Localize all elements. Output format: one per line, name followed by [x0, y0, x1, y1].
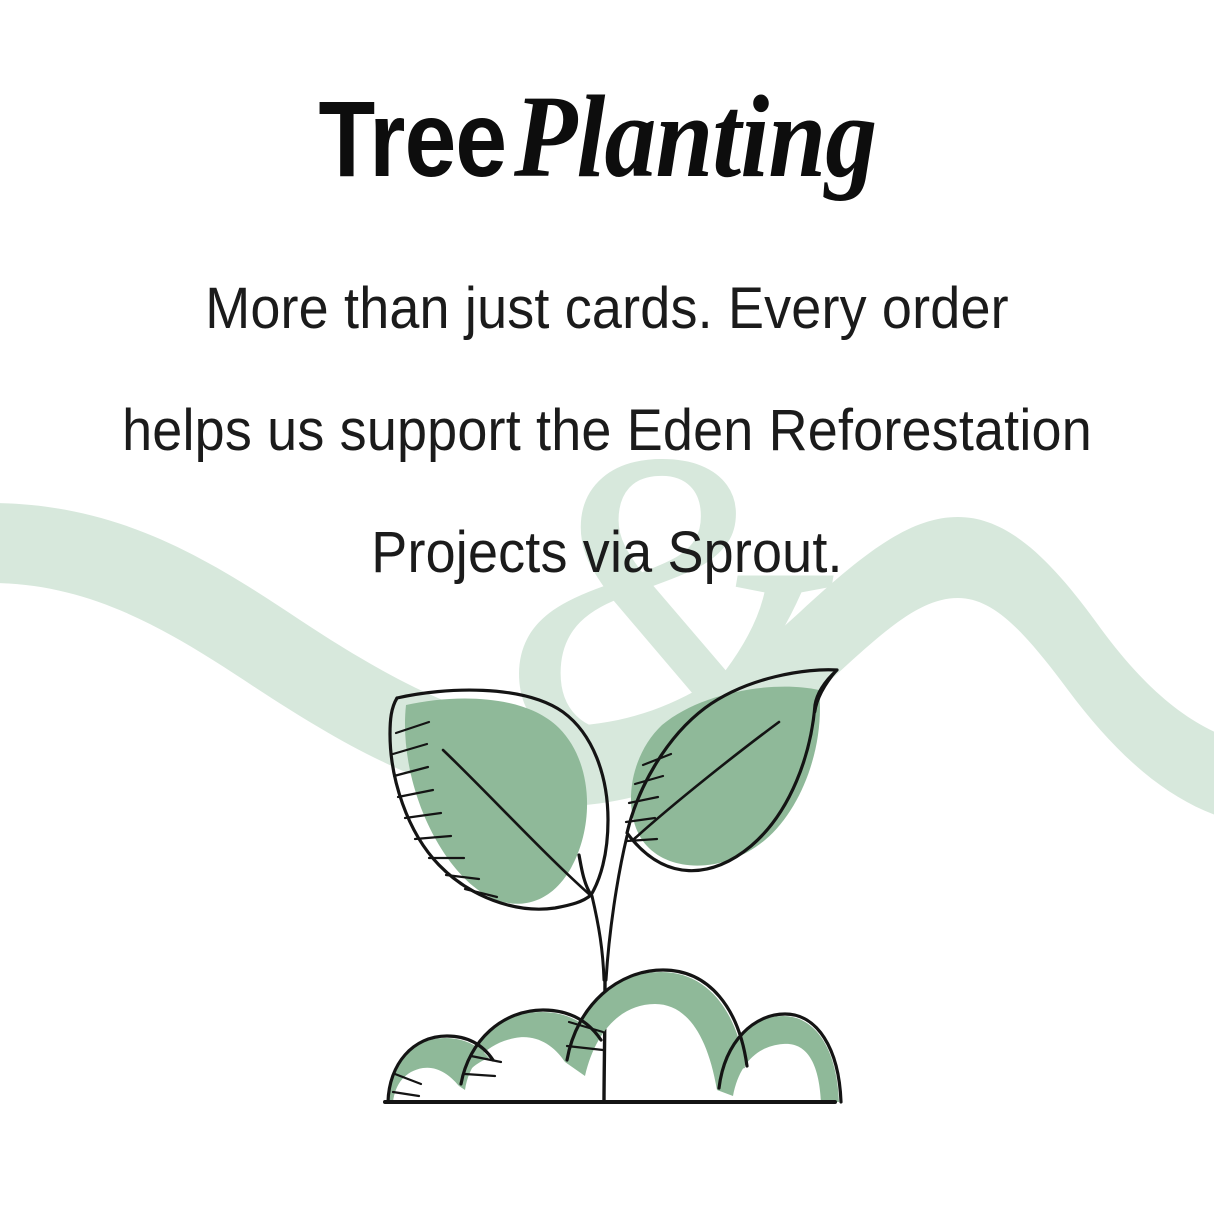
stem: [592, 836, 627, 1102]
seedling-illustration: [355, 650, 865, 1130]
body-line: helps us support the Eden Reforestation: [42, 370, 1171, 492]
right-leaf: [626, 670, 837, 871]
soil-mound: [388, 970, 841, 1102]
body-line: More than just cards. Every order: [42, 248, 1171, 370]
stem-right-branch: [606, 836, 627, 980]
left-leaf: [390, 690, 608, 909]
stem-left-branch: [592, 896, 604, 980]
page-title-word-italic: Planting: [514, 78, 876, 196]
poster-canvas: & TreePlanting More than just cards. Eve…: [0, 0, 1214, 1214]
page-title: TreePlanting: [0, 78, 1214, 196]
body-line: Projects via Sprout.: [42, 492, 1171, 614]
page-title-word-bold: Tree: [319, 85, 507, 193]
body-paragraph: More than just cards. Every order helps …: [0, 248, 1214, 614]
soil-shade-4: [717, 1016, 839, 1102]
